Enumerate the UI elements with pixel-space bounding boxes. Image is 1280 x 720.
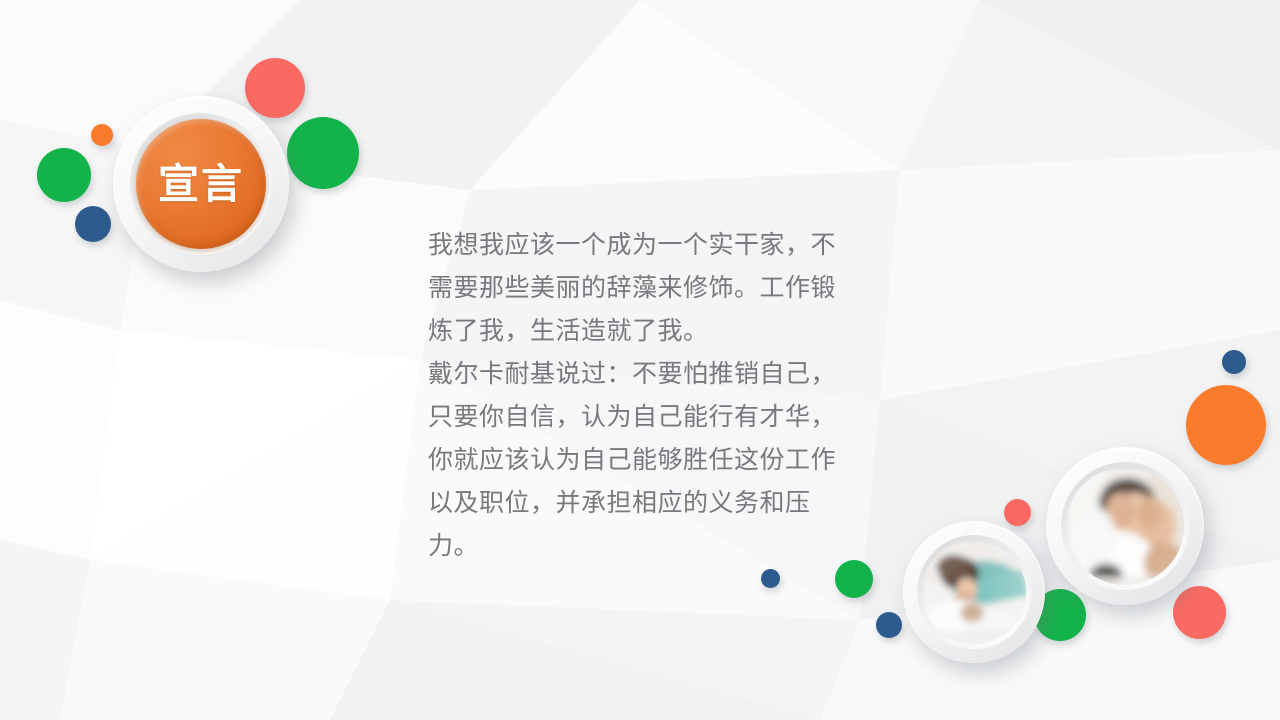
dot-blue-mid: [761, 569, 780, 588]
dot-coral-top: [245, 58, 305, 118]
photo-medallion-person-at-desk: [903, 521, 1045, 663]
dot-coral-bottom-right: [1173, 586, 1226, 639]
photo-stressed-man: [1066, 467, 1184, 585]
dot-green-left-large: [37, 148, 91, 202]
body-paragraph-1: 我想我应该一个成为一个实干家，不需要那些美丽的辞藻来修饰。工作锻炼了我，生活造就…: [428, 224, 858, 353]
dot-blue-lower: [876, 612, 902, 638]
dot-orange-right-large: [1186, 385, 1266, 465]
photo-medallion-stressed-man: [1046, 447, 1204, 605]
dot-blue-right-top: [1222, 350, 1246, 374]
dot-blue-left: [75, 206, 111, 242]
body-paragraph-2: 戴尔卡耐基说过：不要怕推销自己，只要你自信，认为自己能行有才华，你就应该认为自己…: [428, 353, 858, 568]
title-badge-disc: 宣言: [136, 119, 266, 249]
title-badge-label: 宣言: [158, 164, 244, 205]
dot-orange-small-left: [91, 124, 113, 146]
slide-canvas: 宣言 我想我应该一个成为一个实干家，不需要那些美丽的辞藻来修饰。工作锻炼了我，生…: [0, 0, 1280, 720]
body-copy: 我想我应该一个成为一个实干家，不需要那些美丽的辞藻来修饰。工作锻炼了我，生活造就…: [428, 224, 858, 568]
dot-coral-near-photos: [1004, 499, 1031, 526]
photo-person-at-desk: [922, 540, 1026, 644]
title-badge: 宣言: [113, 96, 289, 272]
dot-green-top-right: [287, 117, 359, 189]
